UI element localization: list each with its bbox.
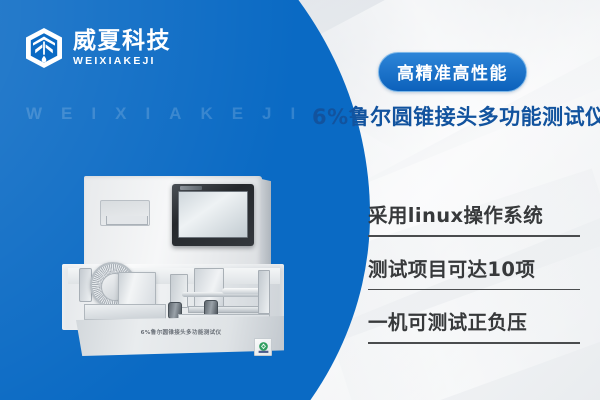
- certification-mark-icon: [254, 338, 272, 356]
- feature-label: 一机可测试正负压: [368, 303, 580, 342]
- feature-label: 测试项目可达10项: [368, 250, 580, 289]
- company-name-cn: 威夏科技: [73, 30, 171, 53]
- brand-logo-text: 威夏科技 WEIXIAKEJI: [73, 30, 171, 67]
- guide-rail-lower: [188, 306, 266, 313]
- advertisement-banner: WEIXIAKEJI 威夏科技 WEIXIAKEJI 高精准高性能 6%鲁尔圆锥…: [0, 0, 600, 400]
- feature-list: 采用linux操作系统 测试项目可达10项 一机可测试正负压: [368, 196, 580, 357]
- list-item: 测试项目可达10项: [368, 250, 580, 291]
- weixia-hexagon-shield-logo-icon: [24, 27, 64, 69]
- product-image: 6%鲁尔圆锥接头多功能测试仪: [62, 176, 284, 362]
- instrument-front-label: 6%鲁尔圆锥接头多功能测试仪: [96, 328, 266, 336]
- company-name-en: WEIXIAKEJI: [73, 56, 171, 67]
- product-headline: 6%鲁尔圆锥接头多功能测试仪: [312, 101, 600, 131]
- list-item: 一机可测试正负压: [368, 303, 580, 344]
- feature-divider: [368, 235, 580, 237]
- feature-label: 采用linux操作系统: [368, 196, 580, 235]
- right-support-post: [258, 270, 270, 314]
- list-item: 采用linux操作系统: [368, 196, 580, 237]
- feature-divider: [368, 289, 580, 291]
- brand-logo: 威夏科技 WEIXIAKEJI: [24, 27, 171, 69]
- feature-divider: [368, 342, 580, 344]
- brand-watermark: WEIXIAKEJI: [26, 104, 314, 124]
- feature-badge: 高精准高性能: [378, 52, 527, 92]
- left-mounting-plate: [84, 304, 166, 320]
- instrument-front-face: [76, 316, 284, 356]
